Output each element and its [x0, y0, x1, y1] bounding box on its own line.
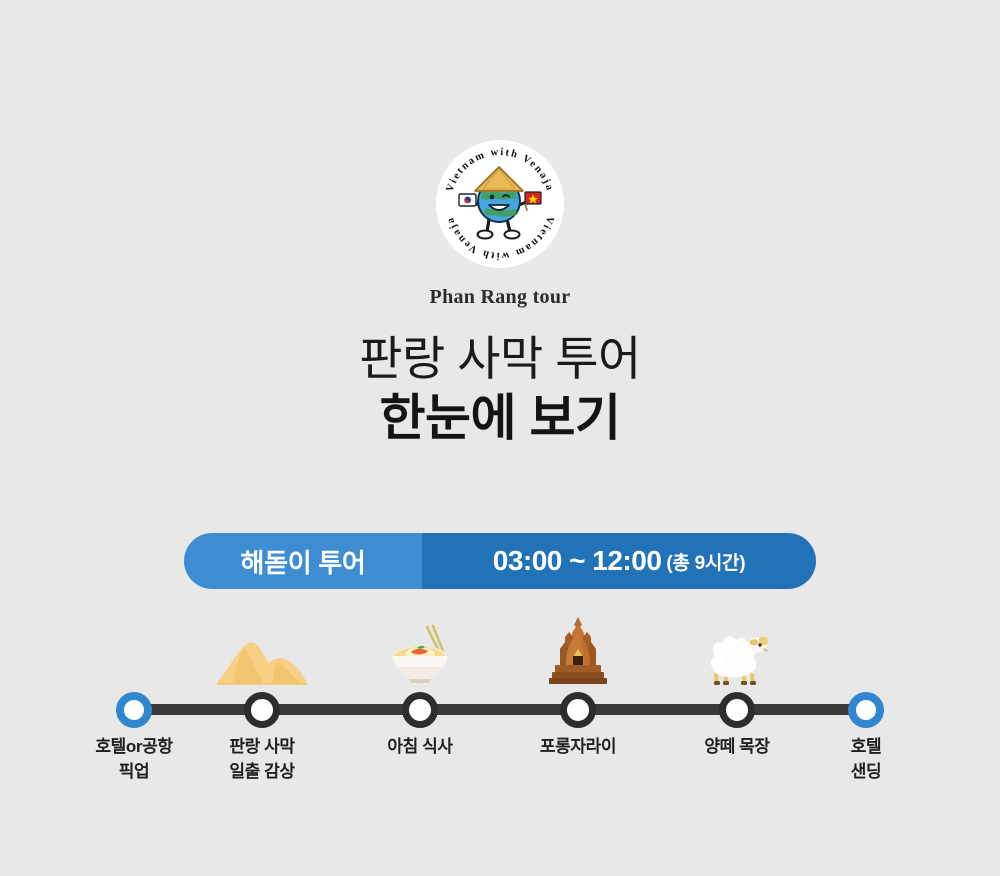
- hindu-temple-icon: [493, 615, 663, 687]
- page-title-line2: 한눈에 보기: [0, 390, 1000, 448]
- timeline-node[interactable]: [244, 692, 280, 728]
- noodle-bowl-icon: [335, 615, 505, 687]
- timeline-step-label: 포롱자라이: [493, 735, 663, 760]
- brand-subtitle: Phan Rang tour: [0, 286, 1000, 309]
- timeline-step-label: 호텔 샌딩: [781, 735, 951, 784]
- logo-container: Vietnam with Venaja Vietnam with Venaja: [0, 140, 1000, 268]
- timeline-node[interactable]: [402, 692, 438, 728]
- timeline-node[interactable]: [719, 692, 755, 728]
- venaja-vietnam-logo: Vietnam with Venaja Vietnam with Venaja: [436, 140, 564, 268]
- timeline-endpoint-node[interactable]: [116, 692, 152, 728]
- tour-timeline: 호텔or공항 픽업 판랑 사막 일출 감상 아침 식사: [0, 615, 1000, 815]
- banner-tour-name-section: 해돋이 투어: [184, 533, 422, 589]
- desert-dunes-icon: [177, 615, 347, 687]
- timeline-step-no-icon: [781, 615, 951, 687]
- banner-duration: (총 9시간): [666, 548, 745, 575]
- banner-time-range: 03:00 ~ 12:00: [493, 545, 662, 577]
- banner-tour-name: 해돋이 투어: [240, 543, 365, 580]
- globe-mascot-with-conical-hat-icon: [457, 161, 543, 247]
- timeline-step-label: 판랑 사막 일출 감상: [177, 735, 347, 784]
- timeline-node[interactable]: [560, 692, 596, 728]
- timeline-step-label: 아침 식사: [335, 735, 505, 760]
- banner-time-section: 03:00 ~ 12:00 (총 9시간): [422, 533, 816, 589]
- timeline-endpoint-node[interactable]: [848, 692, 884, 728]
- page-title-line1: 판랑 사막 투어: [0, 332, 1000, 386]
- tour-summary-banner: 해돋이 투어 03:00 ~ 12:00 (총 9시간): [184, 533, 816, 589]
